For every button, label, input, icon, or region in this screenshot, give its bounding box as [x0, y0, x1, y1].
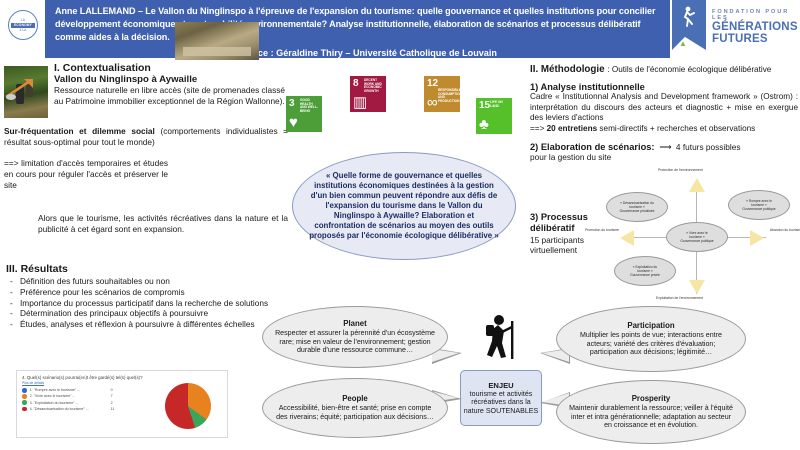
arrow-up-icon — [689, 178, 705, 192]
infinity-icon: ∞ — [427, 95, 438, 110]
right-column: II. Méthodologie : Outils de l'économie … — [530, 64, 798, 162]
section2-heading: II. Méthodologie : Outils de l'économie … — [530, 64, 798, 75]
method-block1-result: ==> 20 entretiens semi-directifs + reche… — [530, 124, 798, 135]
method-block3-text: 15 participants virtuellement — [530, 235, 600, 256]
hill-shape — [672, 34, 706, 50]
section1-para3: ==> limitation d'accès temporaires et ét… — [0, 158, 172, 191]
section2-heading-suffix: : Outils de l'économie écologique délibé… — [607, 65, 771, 74]
pie-chart — [165, 383, 211, 429]
scenario-bubble-ne: « Rompre avec le tourisme » Gouvernance … — [728, 190, 790, 220]
method-block2-label: 2) Elaboration de scénarios: — [530, 142, 655, 152]
scenario-matrix-diagram: Protection de l'environnement Exploitati… — [600, 168, 800, 303]
pillar-text: Multiplier les points de vue; interactio… — [569, 331, 733, 357]
method-block1-title: 1) Analyse institutionnelle — [530, 82, 798, 92]
interview-count: 20 entretiens — [547, 124, 598, 133]
section1-para2-bold: Sur-fréquentation et dilemme social — [4, 126, 155, 136]
bar-growth-icon: ▥ — [353, 95, 367, 110]
leaf-icon: ▲ — [679, 39, 687, 48]
scenario-bubble-text: « Exploitation du tourisme » Gouvernance… — [630, 265, 660, 278]
runner-icon — [680, 6, 696, 28]
axis-label-bottom: Exploitation de l'environnement — [656, 296, 703, 300]
scenario-bubble-text: « Vivre avec le tourisme » Gouvernance p… — [680, 231, 713, 244]
result-rest: semi-directifs + recherches et observati… — [597, 124, 755, 133]
foundation-logo-line2: GÉNÉRATIONS FUTURES — [712, 21, 800, 45]
list-item: Études, analyses et réflexion à poursuiv… — [6, 319, 291, 330]
axis-label-left: Promotion du tourisme — [580, 228, 624, 232]
section3-heading: III. Résultats — [6, 263, 291, 275]
site-access-photo — [175, 22, 259, 60]
method-block2-title: 2) Elaboration de scénarios: ⟶ 4 futurs … — [530, 142, 798, 152]
legend-label: 3. "Exploitation du tourisme" ... — [30, 401, 108, 405]
pillar-bubble-people: People Accessibilité, bien-être et santé… — [262, 378, 448, 438]
scenario-bubble-center: « Vivre avec le tourisme » Gouvernance p… — [666, 222, 728, 252]
survey-pie-chart-card: 4. Quel(s) scénario(s) pourrai(en)t être… — [16, 370, 228, 438]
pillar-title: Planet — [343, 319, 366, 328]
section2-heading-text: II. Méthodologie — [530, 64, 605, 75]
enjeu-title: ENJEU — [488, 381, 513, 390]
seal-circle: LA ECONOMY 4 LA — [8, 10, 38, 40]
pillar-text: Respecter et assurer la pérennité d'un é… — [275, 329, 435, 355]
sdg-icon-8: 8 DECENT WORK AND ECONOMIC GROWTH ▥ — [350, 76, 386, 112]
seal-bottom-text: 4 LA — [20, 28, 27, 32]
chart-title: 4. Quel(s) scénario(s) pourrai(en)t être… — [22, 375, 222, 380]
pillar-title: Participation — [627, 321, 674, 330]
legend-value: 2 — [111, 401, 113, 405]
enjeu-description: tourisme et activités récréatives dans l… — [463, 390, 539, 416]
sdg-number: 12 — [427, 79, 438, 89]
seal-band-text: ECONOMY — [11, 23, 35, 28]
legend-value: 0 — [111, 388, 113, 392]
pillar-text: Maintenir durablement la ressource; veil… — [569, 404, 733, 430]
sdg-icon-15: 15 LIFE ON LAND ♣ — [476, 98, 512, 134]
legend-swatch — [22, 394, 27, 399]
legend-label: 4. "Désanctuarisation du tourisme" ... — [30, 407, 108, 411]
pillar-title: Prosperity — [632, 394, 671, 403]
method-block2-sub: pour la gestion du site — [530, 152, 798, 162]
foundation-logo: ▲ FONDATION POUR LES GÉNÉRATIONS FUTURES — [672, 0, 800, 52]
research-question-bubble: « Quelle forme de gouvernance et quelles… — [292, 152, 516, 260]
scenario-bubble-sw: « Exploitation du tourisme » Gouvernance… — [614, 256, 676, 286]
legend-swatch — [22, 407, 27, 412]
section1-para4: Alors que le tourisme, les activités réc… — [0, 213, 292, 235]
economy-seal-logo: LA ECONOMY 4 LA — [4, 4, 40, 44]
results-list: Définition des futurs souhaitables ou no… — [6, 276, 291, 330]
legend-value: 11 — [111, 407, 115, 411]
sdg-number: 3 — [289, 99, 295, 109]
legend-swatch — [22, 388, 27, 393]
pillar-bubble-prosperity: Prosperity Maintenir durablement la ress… — [556, 380, 746, 444]
seal-top-text: LA — [21, 18, 26, 22]
list-item: Préférence pour les scénarios de comprom… — [6, 287, 291, 298]
poster-header: Anne LALLEMAND – Le Vallon du Ninglinspo… — [45, 0, 670, 58]
runner-logo-mark: ▲ — [672, 0, 706, 50]
result-arrow: ==> — [530, 124, 547, 133]
poster-supervisor: Promotrice : Géraldine Thiry – Universit… — [55, 48, 662, 58]
scenario-bubble-text: « Rompre avec le tourisme » Gouvernance … — [742, 199, 775, 212]
scenario-bubble-text: « Désanctuarisation du tourisme » Gouver… — [620, 201, 655, 214]
pillar-bubble-participation: Participation Multiplier les points de v… — [556, 306, 746, 372]
deliberative-process-block: 3) Processus délibératif 15 participants… — [530, 212, 600, 255]
arrow-down-icon — [689, 280, 705, 294]
pillar-title: People — [342, 394, 368, 403]
sdg-icon-3: 3 GOOD HEALTH AND WELL-BEING ♥ — [286, 96, 322, 132]
foundation-logo-line1: FONDATION POUR LES — [712, 9, 800, 21]
scenario-bubble-nw: « Désanctuarisation du tourisme » Gouver… — [606, 192, 668, 222]
research-question-text: « Quelle forme de gouvernance et quelles… — [309, 171, 499, 242]
tree-icon: ♣ — [479, 117, 489, 132]
list-item: Importance du processus participatif dan… — [6, 298, 291, 309]
legend-label: 2. "Vivre avec le tourisme" ... — [30, 394, 108, 398]
left-column: I. Contextualisation Vallon du Ninglinsp… — [0, 62, 292, 235]
legend-value: 7 — [111, 394, 113, 398]
pillar-text: Accessibilité, bien-être et santé; prise… — [275, 404, 435, 421]
sdg-icon-12: 12 RESPONSIBLE CONSUMPTION AND PRODUCTIO… — [424, 76, 460, 112]
list-item: Détermination des principaux objectifs à… — [6, 308, 291, 319]
futures-count: 4 futurs possibles — [676, 142, 741, 152]
pillar-bubble-planet: Planet Respecter et assurer la pérennité… — [262, 306, 448, 368]
enjeu-core-box: ENJEU tourisme et activités récréatives … — [460, 370, 542, 426]
legend-label: 1. "Rompre avec le tourisme" ... — [30, 388, 108, 392]
growth-arrow-icon — [4, 77, 36, 101]
arrow-right-icon — [750, 230, 764, 246]
method-block1-text: Cadre « Institutionnal Analysis and Deve… — [530, 92, 798, 124]
axis-label-top: Protection de l'environnement — [658, 168, 703, 172]
axis-label-right: Abandon du tourisme — [766, 228, 800, 232]
poster-title: Anne LALLEMAND – Le Vallon du Ninglinspo… — [55, 5, 662, 44]
legend-swatch — [22, 400, 27, 405]
section3-results: III. Résultats Définition des futurs sou… — [6, 263, 291, 330]
foundation-logo-text: FONDATION POUR LES GÉNÉRATIONS FUTURES — [706, 0, 800, 45]
hiker-icon — [478, 313, 522, 363]
list-item: Définition des futurs souhaitables ou no… — [6, 276, 291, 287]
sdg-number: 15 — [479, 101, 490, 111]
sdg-number: 8 — [353, 79, 359, 89]
heartbeat-icon: ♥ — [289, 115, 298, 130]
